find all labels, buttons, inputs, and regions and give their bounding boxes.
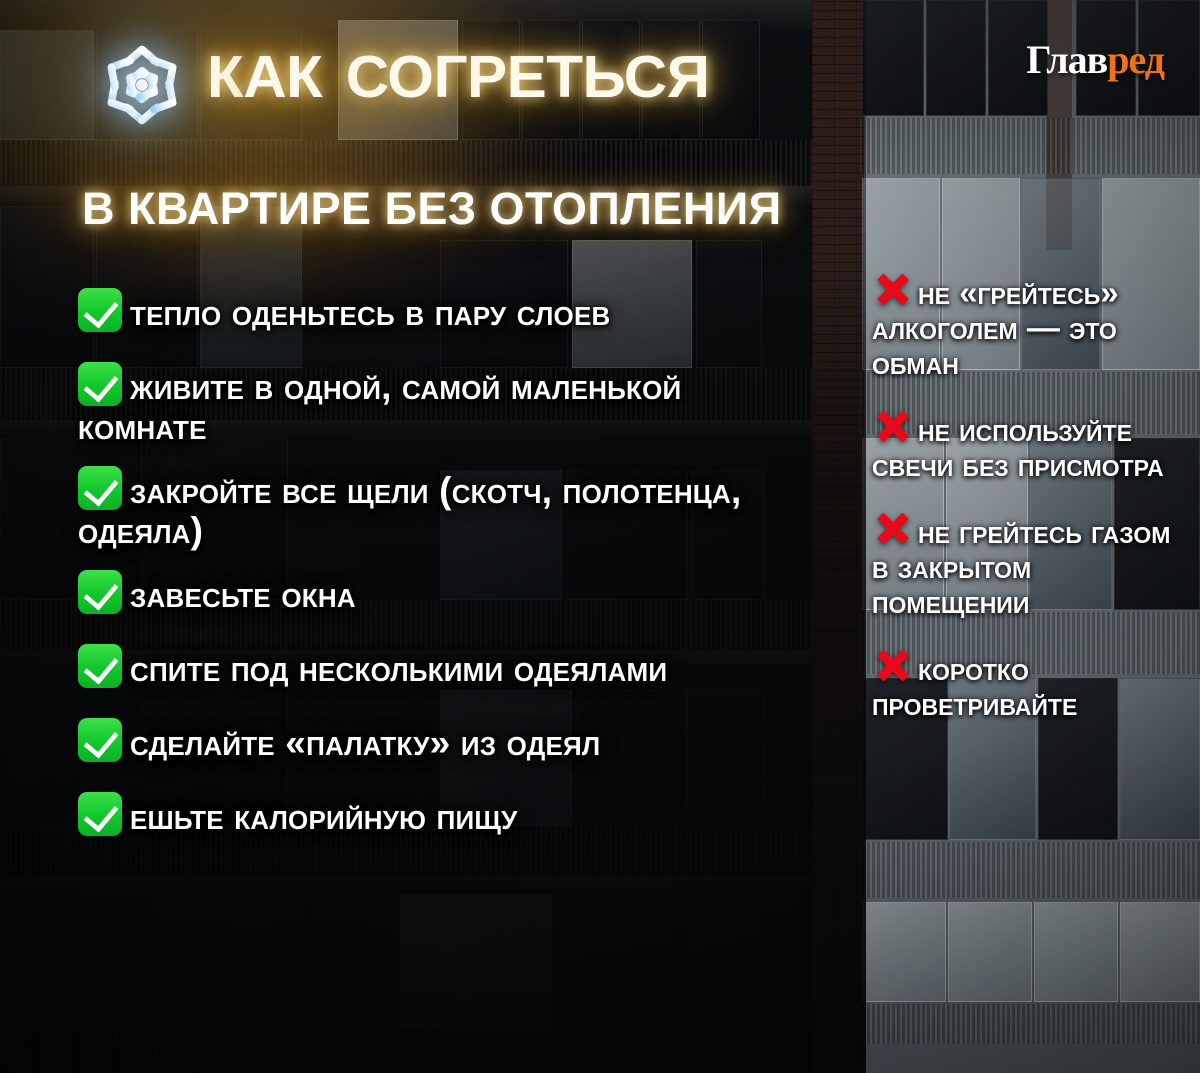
cross-mark-icon — [872, 405, 914, 447]
tip-label: Спите под несколькими одеялами — [130, 648, 667, 689]
list-item: Сделайте «палатку» из одеял — [78, 718, 818, 772]
list-item: Ешьте калорийную пищу — [78, 792, 818, 846]
tip-row: Спите под несколькими одеялами — [78, 644, 818, 689]
warning-label: Не грейтесь газом в закрытом помещении — [872, 513, 1170, 620]
tip-label: Закройте все щели (скотч, полотенца, оде… — [78, 470, 741, 551]
tip-row: Завесьте окна — [78, 570, 818, 615]
warning-row: Коротко проветривайте — [872, 644, 1194, 722]
infographic-poster: Как согреться В квартире без отопления Г… — [0, 0, 1200, 1073]
tip-row: Закройте все щели (скотч, полотенца, оде… — [78, 466, 818, 550]
poster-subtitle: В квартире без отопления — [82, 186, 782, 231]
list-item: Завесьте окна — [78, 570, 818, 624]
list-item: Не «грейтесь» алкоголем — это обман — [872, 268, 1194, 381]
list-item: Коротко проветривайте — [872, 644, 1194, 722]
warning-row: Не используйте свечи без присмотра — [872, 405, 1194, 483]
list-item: Закройте все щели (скотч, полотенца, оде… — [78, 466, 818, 550]
poster-content: Как согреться В квартире без отопления Г… — [0, 0, 1200, 1073]
brand-logo[interactable]: Главред — [1026, 40, 1164, 80]
list-item: Тепло оденьтесь в пару слоев — [78, 288, 818, 342]
tip-label: Завесьте окна — [130, 574, 356, 615]
brand-logo-first-part: Глав — [1026, 37, 1107, 82]
brand-logo-accent-part: ред — [1107, 37, 1164, 82]
warning-row: Не грейтесь газом в закрытом помещении — [872, 507, 1194, 620]
check-mark-icon — [78, 718, 122, 762]
check-mark-icon — [78, 792, 122, 836]
warning-row: Не «грейтесь» алкоголем — это обман — [872, 268, 1194, 381]
check-mark-icon — [78, 362, 122, 406]
tip-row: Сделайте «палатку» из одеял — [78, 718, 818, 763]
check-mark-icon — [78, 570, 122, 614]
cross-mark-icon — [872, 268, 914, 310]
tip-label: Сделайте «палатку» из одеял — [130, 722, 600, 763]
tip-label: Ешьте калорийную пищу — [130, 796, 517, 837]
list-item: Не используйте свечи без присмотра — [872, 405, 1194, 483]
check-mark-icon — [78, 644, 122, 688]
cross-mark-icon — [872, 644, 914, 686]
tips-list: Тепло оденьтесь в пару слоев Живите в од… — [78, 288, 818, 866]
tip-row: Ешьте калорийную пищу — [78, 792, 818, 837]
list-item: Живите в одной, самой маленькой комнате — [78, 362, 818, 446]
tip-row: Тепло оденьтесь в пару слоев — [78, 288, 818, 333]
poster-title: Как согреться — [207, 26, 710, 110]
warning-label: Не используйте свечи без присмотра — [872, 411, 1164, 483]
check-mark-icon — [78, 466, 122, 510]
snowflake-icon — [83, 26, 201, 144]
tip-label: Тепло оденьтесь в пару слоев — [130, 292, 611, 333]
cross-mark-icon — [872, 507, 914, 549]
list-item: Не грейтесь газом в закрытом помещении — [872, 507, 1194, 620]
check-mark-icon — [78, 288, 122, 332]
warnings-list: Не «грейтесь» алкоголем — это обман Не и… — [872, 268, 1194, 746]
tip-label: Живите в одной, самой маленькой комнате — [78, 366, 681, 447]
tip-row: Живите в одной, самой маленькой комнате — [78, 362, 818, 446]
list-item: Спите под несколькими одеялами — [78, 644, 818, 698]
